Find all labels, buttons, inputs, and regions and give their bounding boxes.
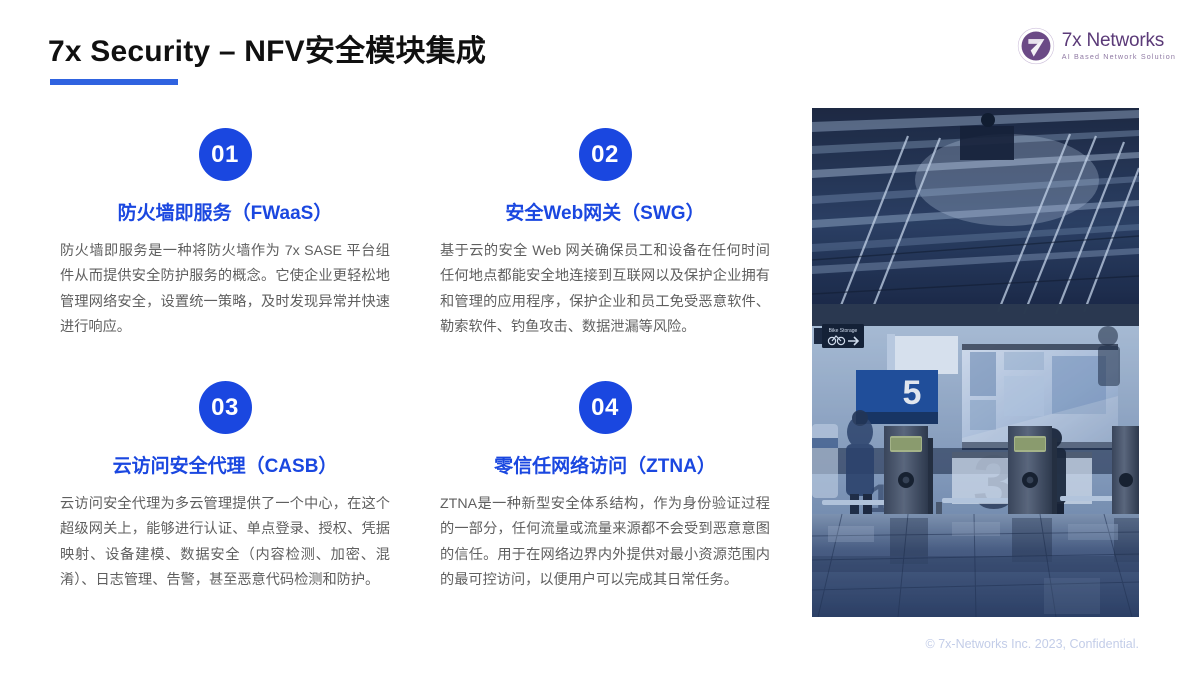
seven-x-badge-icon [1017,27,1055,65]
card-number-badge: 01 [199,128,252,181]
card-body-text: 防火墙即服务是一种将防火墙作为 7x SASE 平台组件从而提供安全防护服务的概… [60,239,390,340]
card-heading: 安全Web网关（SWG） [440,198,770,225]
card-number-badge: 02 [579,128,632,181]
card-heading: 云访问安全代理（CASB） [60,451,390,478]
brand-logo: 7x Networks AI Based Network Solution [1017,27,1176,65]
card-number-badge: 03 [199,381,252,434]
feature-card-01: 01 防火墙即服务（FWaaS） 防火墙即服务是一种将防火墙作为 7x SASE… [60,128,390,340]
card-body-text: ZTNA是一种新型安全体系结构，作为身份验证过程的一部分，任何流量或流量来源都不… [440,492,770,593]
card-body-text: 云访问安全代理为多云管理提供了一个中心，在这个超级网关上，能够进行认证、单点登录… [60,492,390,593]
card-heading: 零信任网络访问（ZTNA） [440,451,770,478]
card-number-badge: 04 [579,381,632,434]
brand-tagline: AI Based Network Solution [1062,53,1176,60]
feature-card-03: 03 云访问安全代理（CASB） 云访问安全代理为多云管理提供了一个中心，在这个… [60,381,390,593]
station-photo: Bike Storage 5 3 1 [812,108,1139,617]
card-body-text: 基于云的安全 Web 网关确保员工和设备在任何时间任何地点都能安全地连接到互联网… [440,239,770,340]
title-accent-bar [50,79,178,85]
brand-name: 7x Networks [1062,31,1176,50]
brand-text-block: 7x Networks AI Based Network Solution [1062,31,1176,60]
feature-card-04: 04 零信任网络访问（ZTNA） ZTNA是一种新型安全体系结构，作为身份验证过… [440,381,770,593]
feature-card-02: 02 安全Web网关（SWG） 基于云的安全 Web 网关确保员工和设备在任何时… [440,128,770,340]
page-title: 7x Security – NFV安全模块集成 [48,26,486,70]
card-heading: 防火墙即服务（FWaaS） [60,198,390,225]
footer-copyright: © 7x-Networks Inc. 2023, Confidential. [926,637,1139,651]
